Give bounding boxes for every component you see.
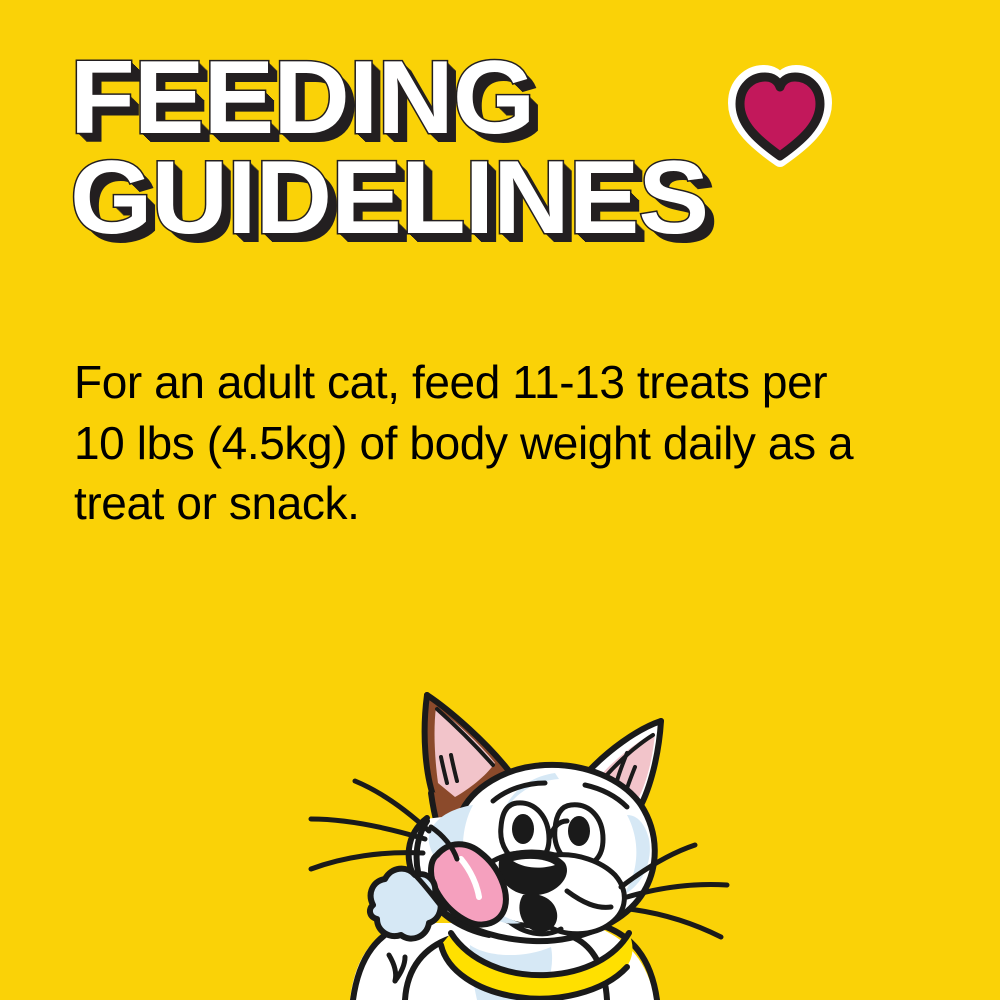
feeding-instructions-text: For an adult cat, feed 11-13 treats per … [74,352,874,534]
heart-icon [727,62,833,168]
page-title-line-2: GUIDELINES [70,152,743,246]
cat-illustration [255,655,755,1000]
poster-canvas: FEEDING GUIDELINES For an adult cat, fee… [0,0,1000,1000]
page-title-line-1: FEEDING [70,52,743,146]
page-title: FEEDING GUIDELINES [70,52,730,245]
